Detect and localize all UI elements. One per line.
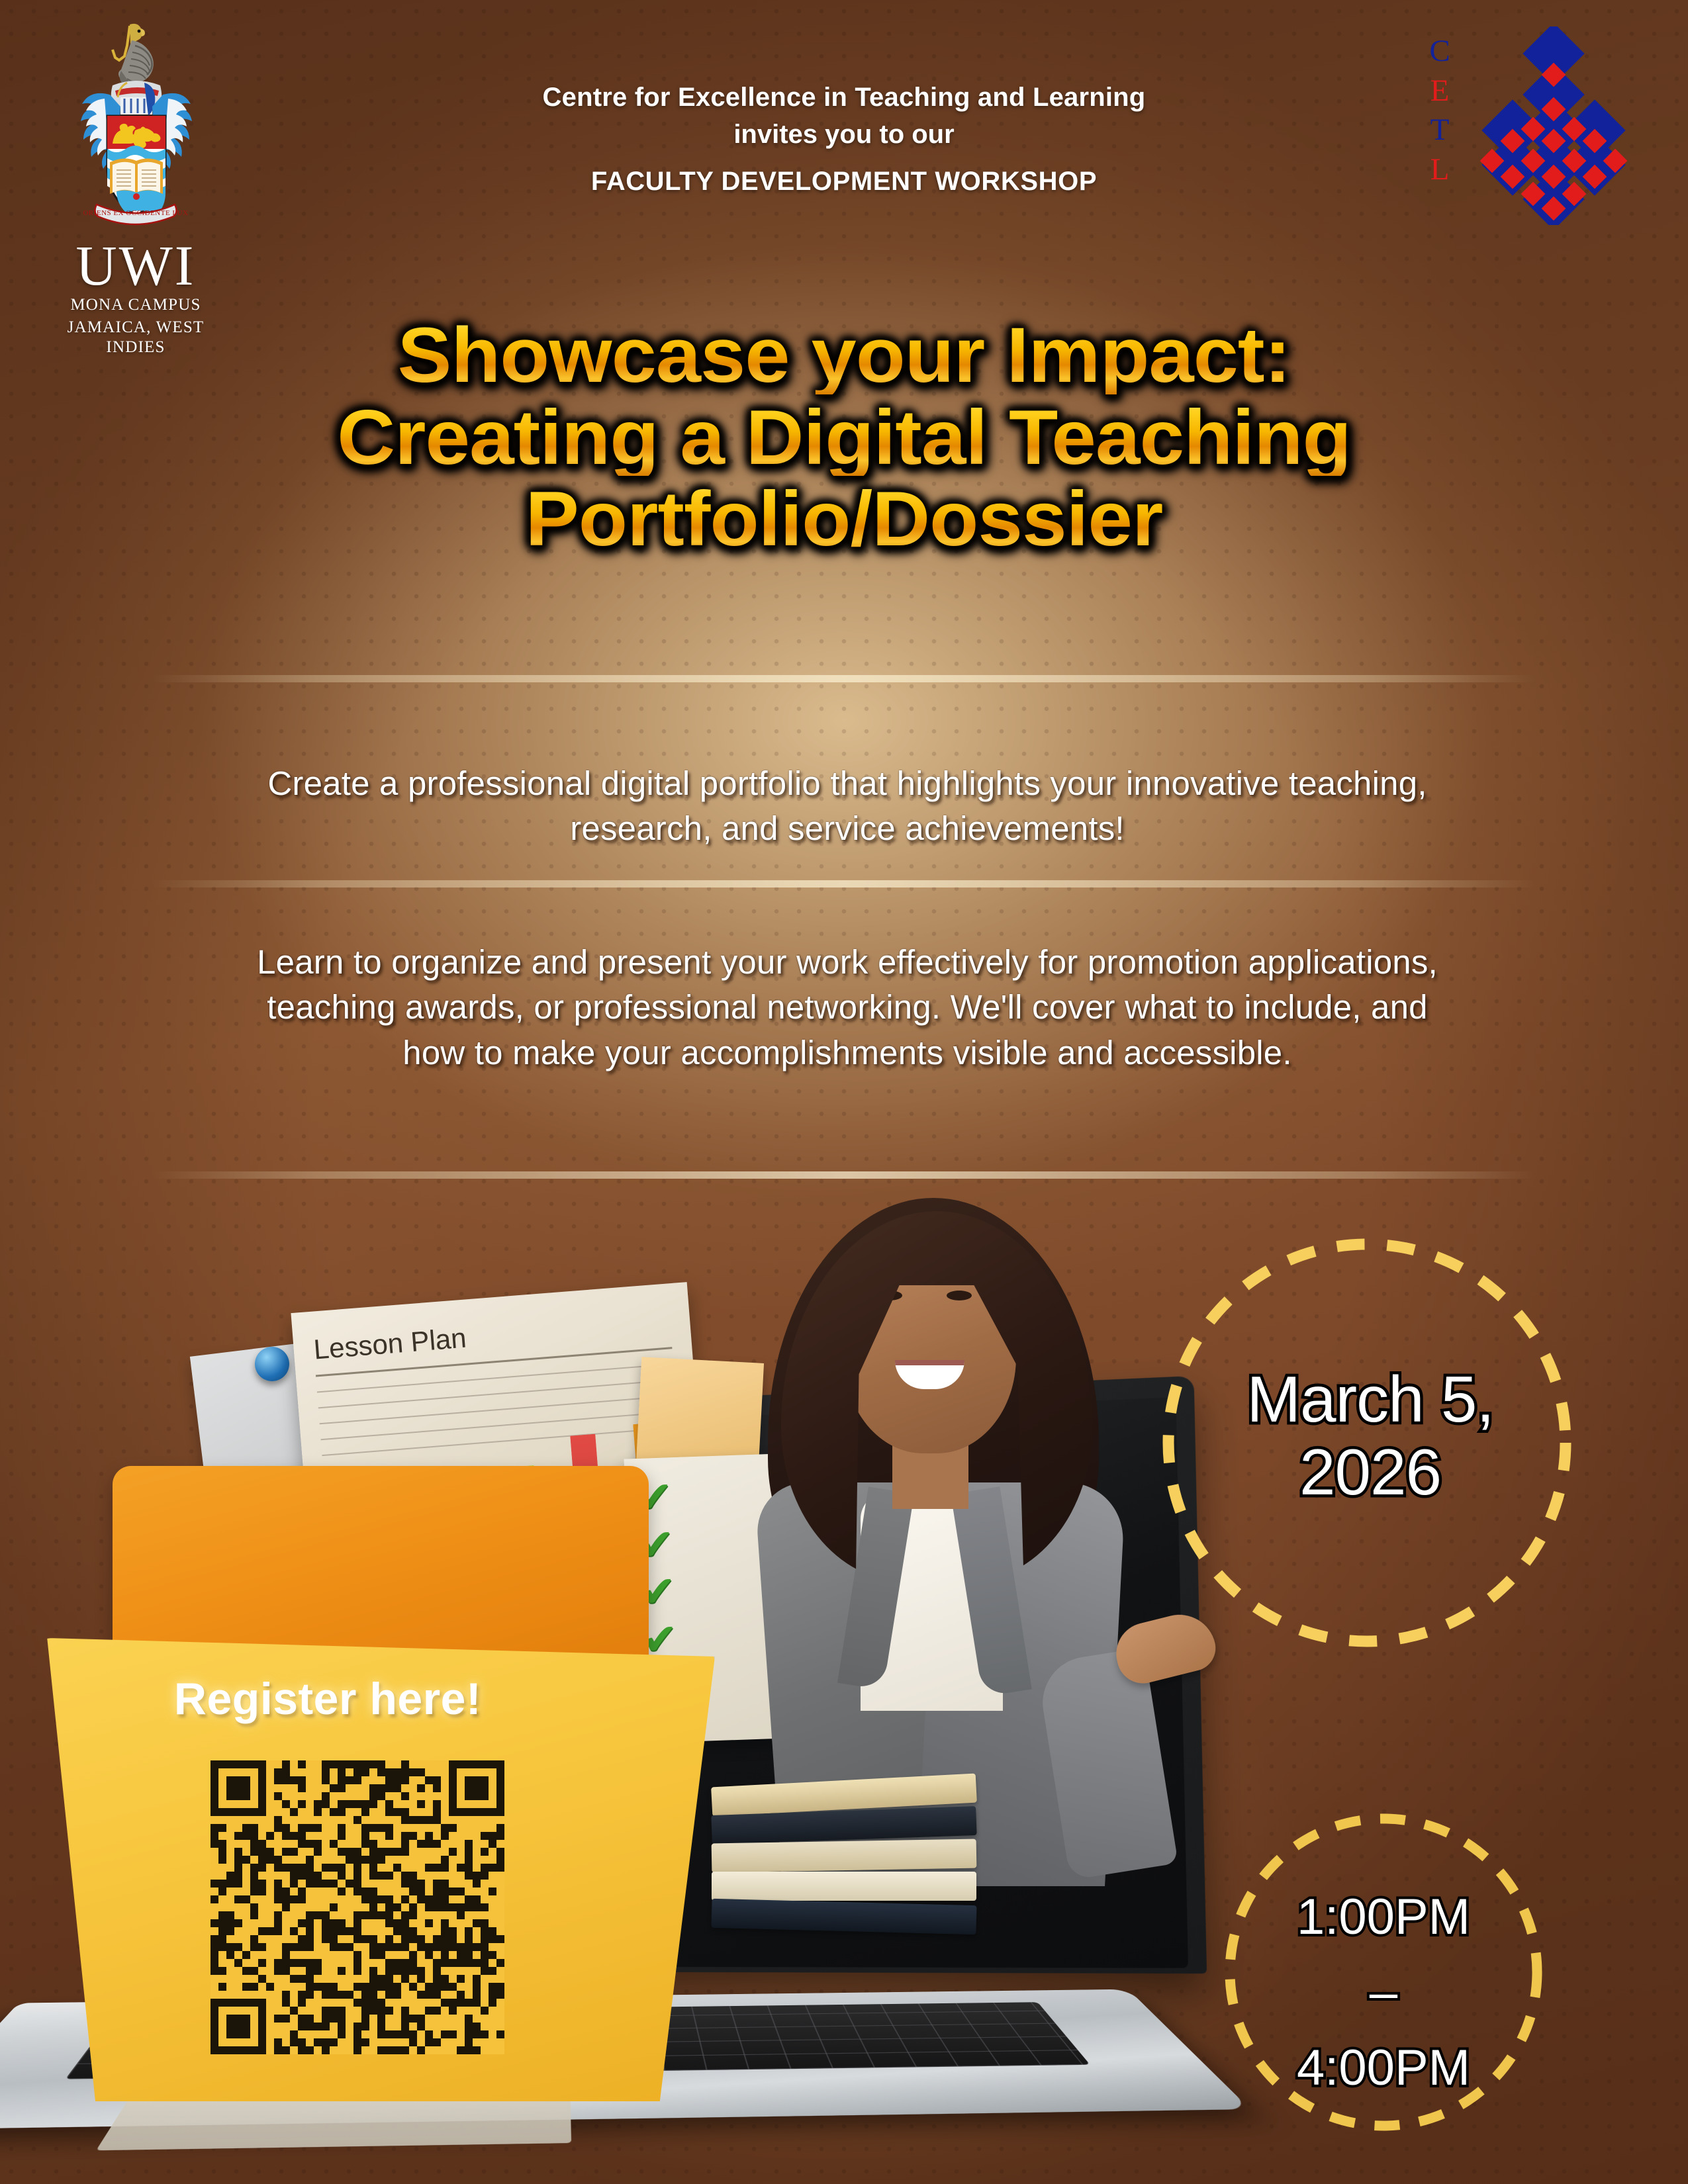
uwi-logo-block: ORIENS EX OCCIDENTE LUX UWI MONA CAMPUS … xyxy=(36,17,235,358)
cetl-logo-block: C E T L xyxy=(1417,26,1642,245)
photo-collage: Lesson Plan ✔ ✔ ✔ ✔ xyxy=(0,1231,1192,2184)
header-line-1: Centre for Excellence in Teaching and Le… xyxy=(450,83,1238,113)
uwi-coat-of-arms-icon: ORIENS EX OCCIDENTE LUX xyxy=(66,17,205,235)
body-paragraph-2: Learn to organize and present your work … xyxy=(252,940,1443,1075)
book-icon xyxy=(712,1872,976,1901)
push-pin-icon xyxy=(255,1347,289,1381)
book-icon xyxy=(711,1899,976,1934)
header-line-3: FACULTY DEVELOPMENT WORKSHOP xyxy=(450,167,1238,197)
divider-middle xyxy=(152,880,1536,887)
cetl-diamond-lattice-icon xyxy=(1458,26,1636,225)
title-line-3: Portfolio/Dossier xyxy=(0,480,1688,557)
uwi-acronym: UWI xyxy=(36,238,235,293)
header-line-2: invites you to our xyxy=(450,120,1238,150)
register-cta-label: Register here! xyxy=(142,1673,513,1725)
presenter-eye-right xyxy=(947,1291,972,1300)
event-time: 1:00PM – 4:00PM xyxy=(1228,1880,1539,2106)
cetl-letter-e: E xyxy=(1417,71,1463,111)
poster-canvas: ORIENS EX OCCIDENTE LUX UWI MONA CAMPUS … xyxy=(0,0,1688,2184)
cetl-letters: C E T L xyxy=(1417,32,1463,190)
event-time-start: 1:00PM xyxy=(1228,1880,1539,1955)
event-date-line-2: 2026 xyxy=(1185,1436,1556,1509)
title-line-1: Showcase your Impact: xyxy=(0,316,1688,394)
uwi-campus-line-1: MONA CAMPUS xyxy=(36,295,235,316)
event-date: March 5, 2026 xyxy=(1185,1363,1556,1509)
cetl-letter-l: L xyxy=(1417,150,1463,190)
page-title: Showcase your Impact: Creating a Digital… xyxy=(0,316,1688,561)
book-icon xyxy=(712,1839,977,1873)
event-time-separator: – xyxy=(1228,1955,1539,2030)
event-time-end: 4:00PM xyxy=(1228,2030,1539,2106)
stack-of-books xyxy=(712,1780,976,1959)
qr-code-icon[interactable] xyxy=(211,1760,504,2054)
divider-top xyxy=(152,675,1536,682)
divider-bottom xyxy=(152,1171,1536,1179)
body-paragraph-1: Create a professional digital portfolio … xyxy=(252,761,1443,852)
presenter-photo xyxy=(682,1191,1185,2019)
lesson-plan-label: Lesson Plan xyxy=(312,1306,671,1365)
header-text-block: Centre for Excellence in Teaching and Le… xyxy=(450,83,1238,197)
cetl-letter-c: C xyxy=(1417,32,1463,71)
cetl-letter-t: T xyxy=(1417,111,1463,150)
event-date-line-1: March 5, xyxy=(1185,1363,1556,1436)
svg-text:ORIENS EX OCCIDENTE LUX: ORIENS EX OCCIDENTE LUX xyxy=(83,209,188,217)
title-line-2: Creating a Digital Teaching xyxy=(0,398,1688,476)
